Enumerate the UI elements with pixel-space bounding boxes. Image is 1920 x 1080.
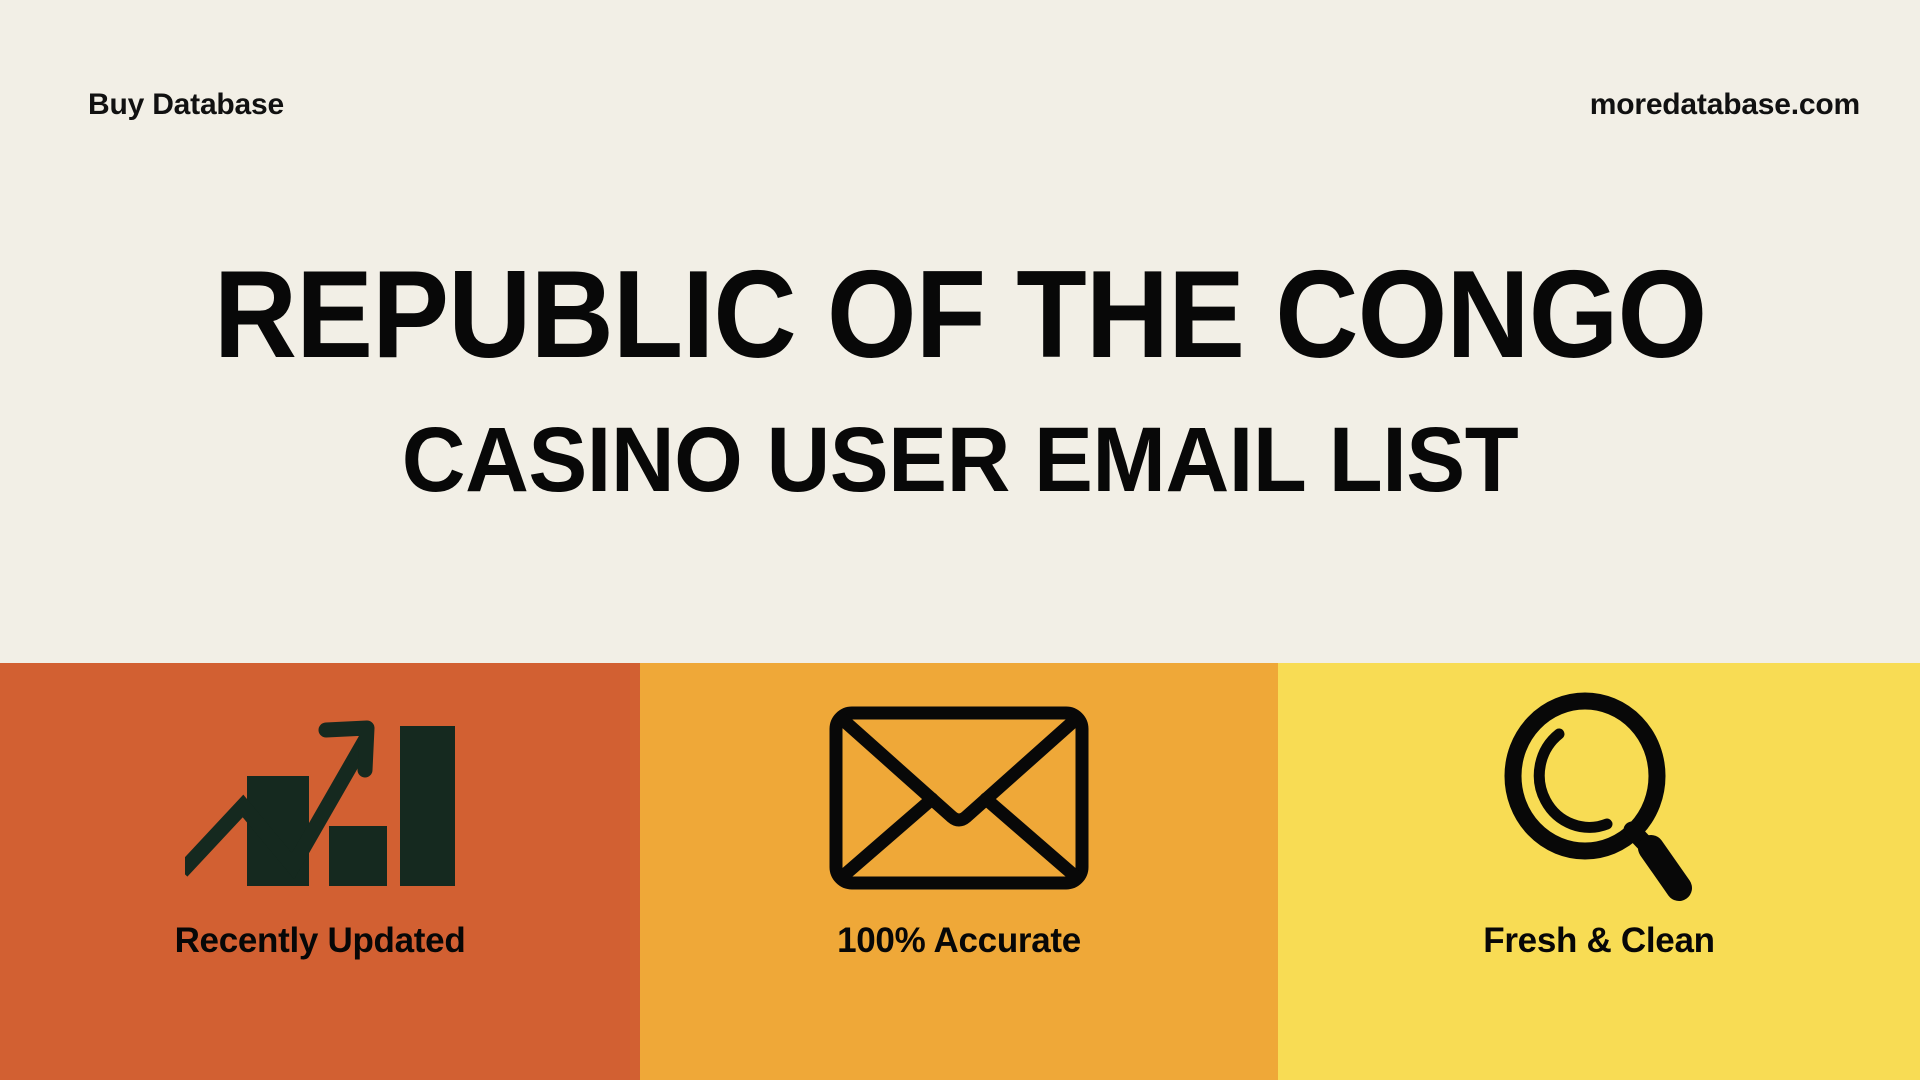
feature-label-recently-updated: Recently Updated	[175, 921, 466, 961]
icon-container	[0, 683, 640, 913]
feature-panel-recently-updated: Recently Updated	[0, 663, 640, 1080]
website-url-label: moredatabase.com	[1590, 88, 1860, 122]
feature-label-accurate: 100% Accurate	[837, 921, 1081, 961]
page-title: REPUBLIC OF THE CONGO	[67, 258, 1853, 372]
bar-chart-trend-up-icon	[185, 698, 455, 898]
feature-label-fresh-clean: Fresh & Clean	[1483, 921, 1714, 961]
headline-block: REPUBLIC OF THE CONGO CASINO USER EMAIL …	[0, 258, 1920, 506]
feature-strip: Recently Updated 100% Accurate	[0, 663, 1920, 1080]
magnifying-glass-icon	[1499, 690, 1699, 906]
icon-container	[1278, 683, 1920, 913]
brand-left-label: Buy Database	[88, 88, 284, 122]
envelope-icon	[828, 705, 1090, 891]
top-bar: Buy Database moredatabase.com	[0, 0, 1920, 200]
feature-panel-fresh-clean: Fresh & Clean	[1278, 663, 1920, 1080]
icon-container	[640, 683, 1278, 913]
banner-root: Buy Database moredatabase.com REPUBLIC O…	[0, 0, 1920, 1080]
page-subtitle: CASINO USER EMAIL LIST	[38, 414, 1881, 506]
feature-panel-accurate: 100% Accurate	[640, 663, 1278, 1080]
